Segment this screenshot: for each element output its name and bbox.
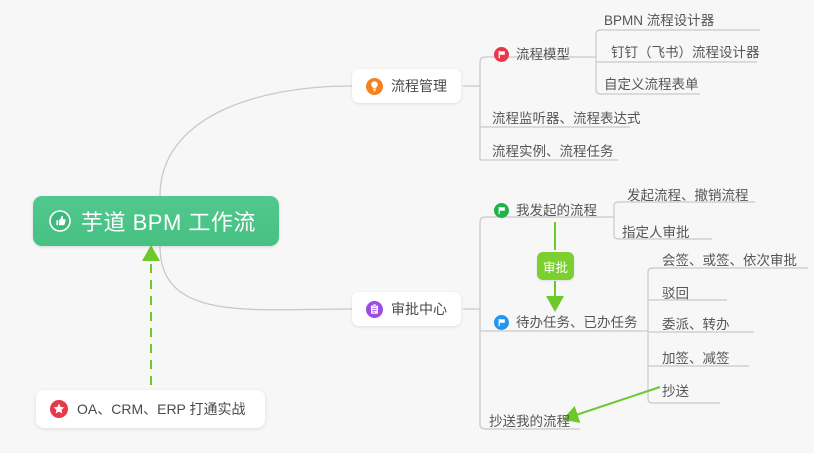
leaf-label-my-started-process: 我发起的流程 <box>516 204 597 218</box>
leaf-label-start-cancel-process: 发起流程、撤销流程 <box>627 188 749 203</box>
leaf-custom-form[interactable]: 自定义流程表单 <box>604 78 699 92</box>
clipboard-icon <box>366 301 383 318</box>
leaf-label-bpmn-designer: BPMN 流程设计器 <box>604 13 714 28</box>
leaf-assignee-approve[interactable]: 指定人审批 <box>622 226 690 240</box>
leaf-delegate-transfer[interactable]: 委派、转办 <box>662 318 730 332</box>
underline-countersign <box>648 268 808 272</box>
underline-bpmn-designer <box>596 30 760 34</box>
leaf-process-model[interactable]: 流程模型 <box>494 47 570 62</box>
flag-icon <box>494 203 509 218</box>
edge-root-to-approval-center <box>160 246 352 310</box>
approval-badge: 审批 <box>537 252 574 280</box>
leaf-label-reject: 驳回 <box>662 286 689 301</box>
underline-cc <box>648 399 720 403</box>
leaf-label-delegate-transfer: 委派、转办 <box>662 317 730 332</box>
leaf-label-add-remove-sign: 加签、减签 <box>662 351 730 366</box>
root-node[interactable]: 芋道 BPM 工作流 <box>33 196 279 246</box>
branch-label-approval-center: 审批中心 <box>391 299 447 319</box>
leaf-cc-to-me-process[interactable]: 抄送我的流程 <box>489 415 570 429</box>
leaf-reject[interactable]: 驳回 <box>662 287 689 301</box>
approval-badge-label: 审批 <box>543 257 568 276</box>
flag-icon <box>494 315 509 330</box>
lightbulb-icon <box>366 78 383 95</box>
leaf-label-cc: 抄送 <box>662 384 689 399</box>
leaf-cc[interactable]: 抄送 <box>662 385 689 399</box>
branch-node-process-management[interactable]: 流程管理 <box>352 69 461 103</box>
leaf-start-cancel-process[interactable]: 发起流程、撤销流程 <box>627 189 749 203</box>
leaf-label-assignee-approve: 指定人审批 <box>622 225 690 240</box>
leaf-process-listener[interactable]: 流程监听器、流程表达式 <box>492 112 641 126</box>
leaf-add-remove-sign[interactable]: 加签、减签 <box>662 352 730 366</box>
mindmap-canvas: 芋道 BPM 工作流 流程管理 审批中心 <box>0 0 814 453</box>
thumbs-up-icon <box>49 210 71 232</box>
branch-node-approval-center[interactable]: 审批中心 <box>352 292 461 326</box>
leaf-label-dingtalk-designer: 钉钉（飞书）流程设计器 <box>611 45 760 60</box>
leaf-label-countersign: 会签、或签、依次审批 <box>662 253 797 268</box>
branch-label-process-management: 流程管理 <box>391 76 447 96</box>
leaf-label-process-instance: 流程实例、流程任务 <box>492 144 614 159</box>
edge-root-to-process-management <box>160 86 352 196</box>
arrow-cc-to-ccprocess <box>570 387 660 417</box>
bottom-note-label: OA、CRM、ERP 打通实战 <box>77 399 246 419</box>
bottom-note-node[interactable]: OA、CRM、ERP 打通实战 <box>36 390 265 428</box>
root-label: 芋道 BPM 工作流 <box>81 205 256 237</box>
leaf-label-cc-to-me-process: 抄送我的流程 <box>489 414 570 429</box>
leaf-bpmn-designer[interactable]: BPMN 流程设计器 <box>604 14 714 28</box>
leaf-my-started-process[interactable]: 我发起的流程 <box>494 203 597 218</box>
leaf-countersign[interactable]: 会签、或签、依次审批 <box>662 254 797 268</box>
leaf-dingtalk-designer[interactable]: 钉钉（飞书）流程设计器 <box>611 46 760 60</box>
flag-icon <box>494 47 509 62</box>
leaf-label-process-model: 流程模型 <box>516 48 570 62</box>
leaf-process-instance[interactable]: 流程实例、流程任务 <box>492 145 614 159</box>
leaf-label-custom-form: 自定义流程表单 <box>604 77 699 92</box>
star-icon <box>50 400 68 418</box>
leaf-label-todo-done-tasks: 待办任务、已办任务 <box>516 316 638 330</box>
leaf-todo-done-tasks[interactable]: 待办任务、已办任务 <box>494 315 638 330</box>
leaf-label-process-listener: 流程监听器、流程表达式 <box>492 111 641 126</box>
